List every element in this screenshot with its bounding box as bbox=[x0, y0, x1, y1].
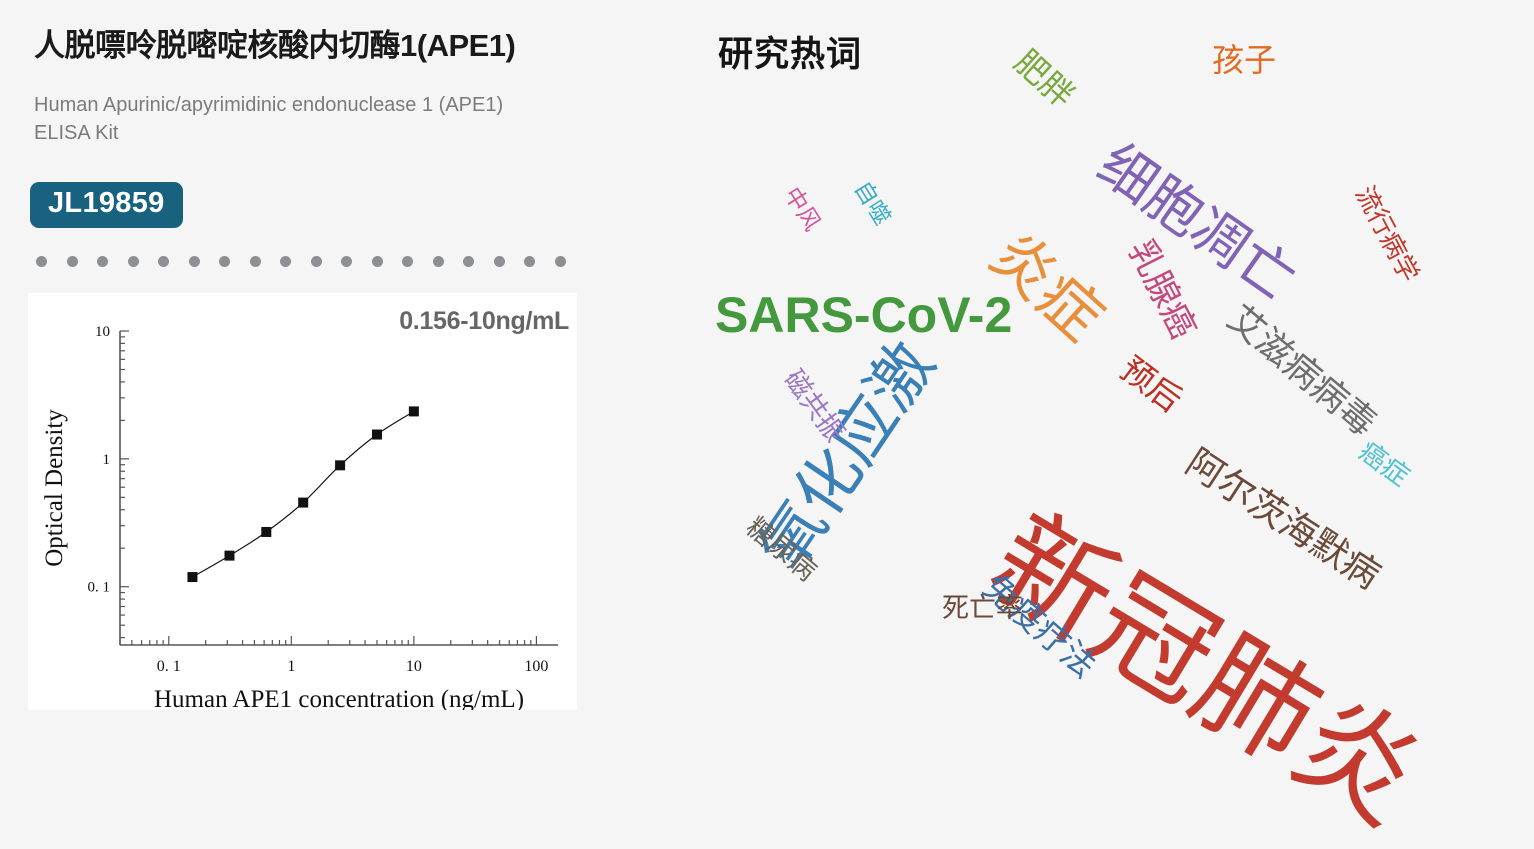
chart-x-axis-label: Human APE1 concentration (ng/mL) bbox=[154, 686, 524, 710]
wordcloud-word: 阿尔茨海默病 bbox=[1180, 443, 1386, 595]
decorative-dot bbox=[250, 256, 261, 267]
decorative-dot bbox=[128, 256, 139, 267]
wordcloud-word: 流行病学 bbox=[1352, 182, 1424, 286]
chart-y-tick-label: 10 bbox=[95, 324, 110, 340]
decorative-dot bbox=[341, 256, 352, 267]
decorative-dot bbox=[524, 256, 535, 267]
decorative-dot bbox=[555, 256, 566, 267]
chart-data-point bbox=[372, 430, 382, 440]
standard-curve-plot: 0. 11101000. 1110 Optical Density Human … bbox=[28, 293, 577, 710]
chart-data-point bbox=[335, 460, 345, 470]
wordcloud-word: 死亡率 bbox=[942, 595, 1023, 622]
decorative-dot bbox=[219, 256, 230, 267]
decorative-dot bbox=[433, 256, 444, 267]
wordcloud-word: 细胞凋亡 bbox=[1089, 135, 1305, 309]
wordcloud: 新冠肺炎氧化应激细胞凋亡SARS-CoV-2炎症阿尔茨海默病艾滋病病毒免疫疗法乳… bbox=[700, 0, 1534, 744]
decorative-dot bbox=[372, 256, 383, 267]
chart-data-point bbox=[298, 498, 308, 508]
wordcloud-word: 预后 bbox=[1115, 351, 1188, 417]
product-subtitle: Human Apurinic/apyrimidinic endonuclease… bbox=[34, 92, 504, 147]
chart-data-point bbox=[261, 527, 271, 537]
chart-x-tick-label: 10 bbox=[406, 658, 422, 675]
wordcloud-word: 癌症 bbox=[1354, 438, 1414, 492]
chart-data-point bbox=[224, 551, 234, 561]
decorative-dot bbox=[402, 256, 413, 267]
decorative-dot bbox=[97, 256, 108, 267]
chart-y-tick-label: 1 bbox=[103, 452, 111, 468]
product-info-panel: 人脱嘌呤脱嘧啶核酸内切酶1(APE1) Human Apurinic/apyri… bbox=[0, 0, 700, 744]
wordcloud-word: 自噬 bbox=[850, 177, 894, 228]
research-keywords-panel: 研究热词 新冠肺炎氧化应激细胞凋亡SARS-CoV-2炎症阿尔茨海默病艾滋病病毒… bbox=[700, 0, 1534, 744]
chart-x-tick-label: 100 bbox=[524, 658, 548, 675]
decorative-dot bbox=[189, 256, 200, 267]
chart-y-tick-label: 0. 1 bbox=[88, 580, 111, 596]
chart-y-axis-label: Optical Density bbox=[41, 409, 68, 567]
chart-data-point bbox=[409, 406, 419, 416]
wordcloud-word: 艾滋病病毒 bbox=[1221, 299, 1382, 442]
wordcloud-word: 肥胖 bbox=[1009, 44, 1080, 113]
decorative-dot bbox=[463, 256, 474, 267]
chart-x-tick-label: 0. 1 bbox=[157, 658, 181, 675]
chart-x-tick-label: 1 bbox=[287, 658, 295, 675]
chart-data-point bbox=[187, 572, 197, 582]
decorative-dot-row bbox=[36, 256, 566, 267]
status-badge: JL19859 bbox=[30, 182, 183, 228]
wordcloud-word: SARS-CoV-2 bbox=[715, 290, 1012, 340]
wordcloud-word: 孩子 bbox=[1212, 44, 1276, 76]
page-title: 人脱嘌呤脱嘧啶核酸内切酶1(APE1) bbox=[34, 20, 515, 65]
decorative-dot bbox=[158, 256, 169, 267]
decorative-dot bbox=[311, 256, 322, 267]
decorative-dot bbox=[67, 256, 78, 267]
wordcloud-word: 中风 bbox=[780, 183, 824, 234]
standard-curve-chart-card: 0.156-10ng/mL 0. 11101000. 1110 Optical … bbox=[28, 293, 577, 710]
decorative-dot bbox=[494, 256, 505, 267]
decorative-dot bbox=[36, 256, 47, 267]
decorative-dot bbox=[280, 256, 291, 267]
